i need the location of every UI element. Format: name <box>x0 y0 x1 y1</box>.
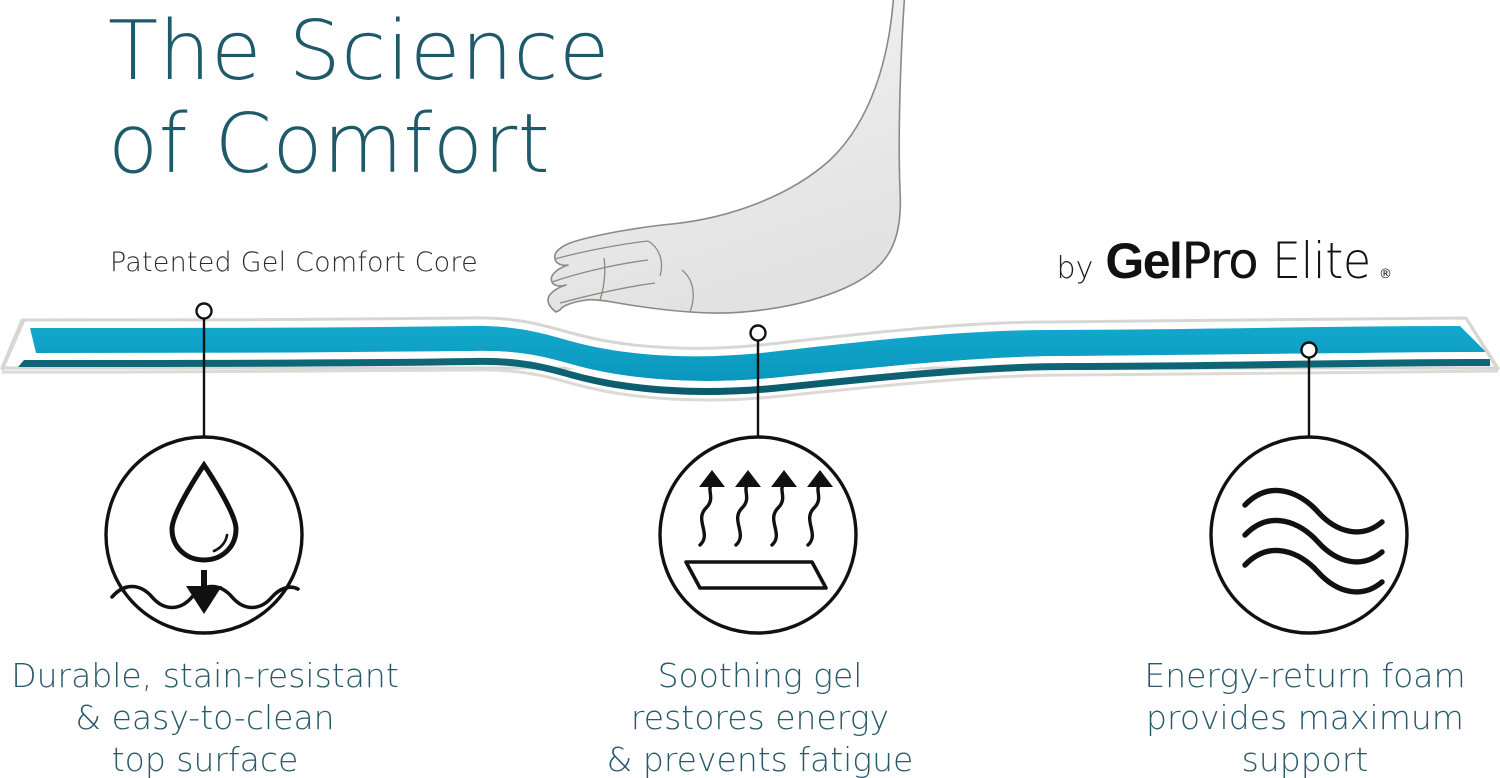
registered-trademark-icon: ® <box>1379 267 1392 282</box>
brand-logo: by Gel Pro Elite ® <box>1057 232 1392 290</box>
infographic-canvas: The Science of Comfort Patented Gel Comf… <box>0 0 1500 778</box>
brand-by-text: by <box>1057 251 1094 286</box>
page-title: The Science of Comfort <box>108 6 808 191</box>
callout-anchor-dot <box>751 326 766 341</box>
callout-energy-return-foam[interactable] <box>1211 343 1407 634</box>
callout-anchor-dot <box>1302 343 1317 358</box>
callout-anchor-dot <box>197 304 212 319</box>
icon-circle-outline <box>660 437 856 633</box>
gel-comfort-core-label: Patented Gel Comfort Core <box>110 247 478 278</box>
caption-soothing-gel: Soothing gel restores energy & prevents … <box>560 655 960 778</box>
brand-pro-text: Pro <box>1181 232 1257 290</box>
brand-gel-text: Gel <box>1105 232 1181 290</box>
brand-elite-text: Elite <box>1272 232 1371 290</box>
caption-energy-return-foam: Energy-return foam provides maximum supp… <box>1110 655 1500 778</box>
caption-durable-top-surface: Durable, stain-resistant & easy-to-clean… <box>0 655 410 778</box>
